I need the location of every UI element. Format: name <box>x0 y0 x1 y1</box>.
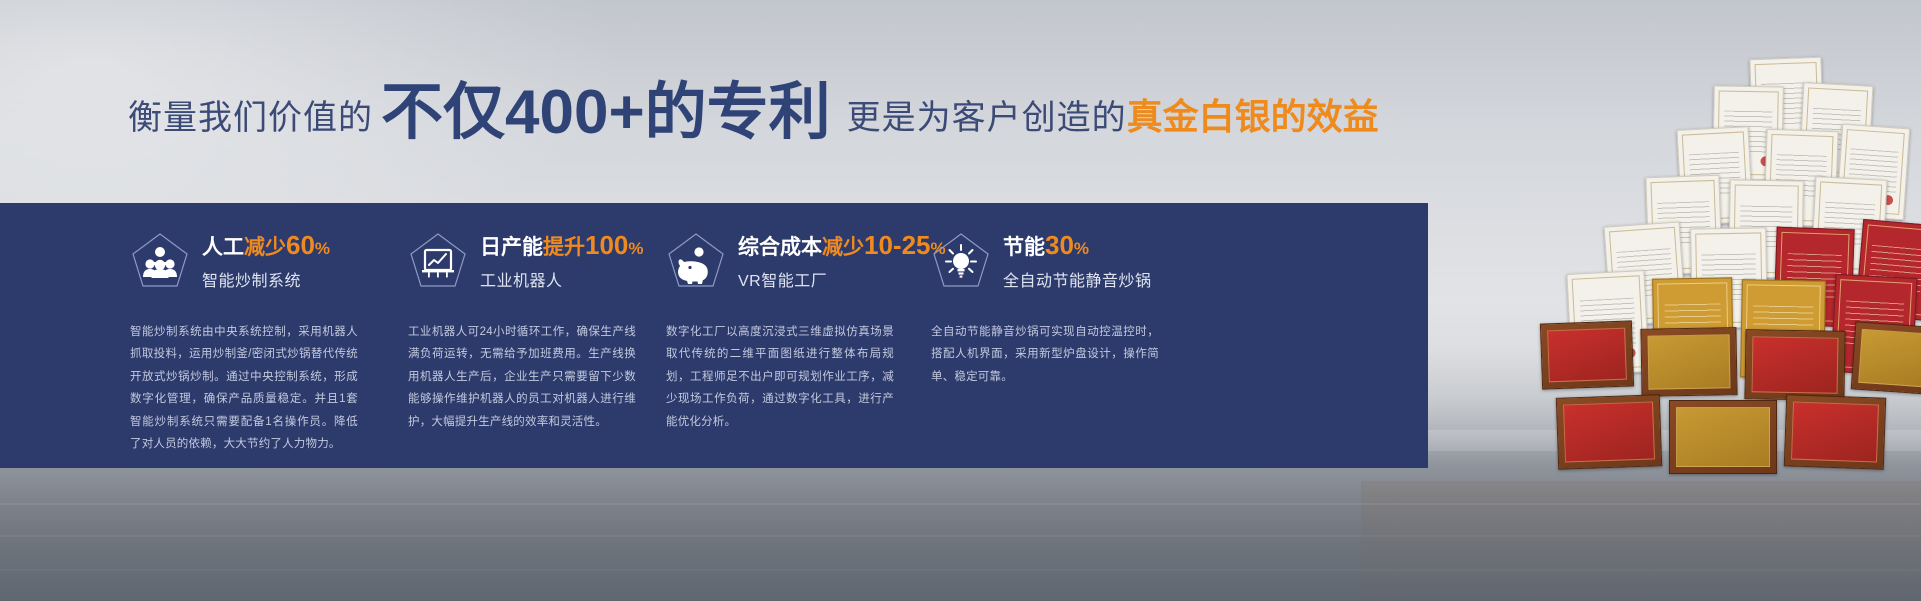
feature-subtitle: 工业机器人 <box>480 267 644 291</box>
feature-body: 数字化工厂以高度沉浸式三维虚拟仿真场景取代传统的二维平面图纸进行整体布局规划，工… <box>666 321 894 433</box>
certificate-reflection <box>1361 481 1921 601</box>
certificate <box>1830 274 1917 376</box>
feature-list: 人工减少60% 智能炒制系统 智能炒制系统由中央系统控制，采用机器人抓取投料，运… <box>130 223 1191 456</box>
feature-title-number: 30 <box>1045 230 1074 260</box>
feature-header: 人工减少60% 智能炒制系统 <box>130 223 408 299</box>
feature-title: 综合成本减少10-25% <box>738 231 946 261</box>
certificate <box>1799 82 1874 180</box>
award-plaque <box>1540 320 1634 389</box>
feature-title-number: 10-25 <box>864 230 931 260</box>
water-streak <box>0 535 1921 537</box>
feature-title-percent: % <box>315 239 330 258</box>
award-plaque <box>1784 394 1886 469</box>
feature-title: 日产能提升100% <box>480 231 644 261</box>
certificate <box>1740 279 1826 378</box>
feature-title-amount: 提升 <box>543 236 585 259</box>
certificate <box>1566 270 1649 376</box>
feature-body: 工业机器人可24小时循环工作，确保生产线满负荷运转，无需给予加班费用。生产线换用… <box>408 321 636 433</box>
banner-stage: 衡量我们价值的 不仅400+的专利 更是为客户创造的 真金白银的效益 <box>0 0 1921 601</box>
feature-title-percent: % <box>1074 239 1089 258</box>
certificate <box>1773 227 1854 328</box>
award-plaque <box>1556 394 1662 470</box>
banner-headline: 衡量我们价值的 不仅400+的专利 更是为客户创造的 真金白银的效益 <box>128 78 1379 140</box>
feature-titles: 人工减少60% 智能炒制系统 <box>202 231 330 292</box>
feature-header: 节能30% 全自动节能静音炒锅 <box>931 223 1191 299</box>
feature-subtitle: 智能炒制系统 <box>202 267 330 291</box>
feature-titles: 综合成本减少10-25% VR智能工厂 <box>738 231 946 292</box>
certificate <box>1604 221 1687 326</box>
certificate <box>1811 176 1888 276</box>
feature-item: 综合成本减少10-25% VR智能工厂 数字化工厂以高度沉浸式三维虚拟仿真场景取… <box>666 223 931 456</box>
certificate <box>1645 175 1722 276</box>
certificate <box>1652 277 1734 378</box>
feature-title-amount: 减少 <box>244 236 286 259</box>
feature-subtitle: VR智能工厂 <box>738 267 946 291</box>
certificate <box>1763 129 1838 227</box>
feature-title-percent: % <box>628 239 643 258</box>
award-plaque <box>1744 329 1845 401</box>
feature-panel: 人工减少60% 智能炒制系统 智能炒制系统由中央系统控制，采用机器人抓取投料，运… <box>0 203 1428 468</box>
feature-title-prefix: 人工 <box>202 236 244 259</box>
water-streak <box>0 503 1921 505</box>
team-people-icon <box>130 231 190 291</box>
certificate <box>1749 57 1824 155</box>
feature-titles: 节能30% 全自动节能静音炒锅 <box>1003 231 1152 292</box>
feature-item: 日产能提升100% 工业机器人 工业机器人可24小时循环工作，确保生产线满负荷运… <box>408 223 666 456</box>
feature-title: 人工减少60% <box>202 231 330 261</box>
chart-board-icon <box>408 231 468 291</box>
certificate <box>1855 219 1921 321</box>
feature-titles: 日产能提升100% 工业机器人 <box>480 231 644 292</box>
headline-accent: 真金白银的效益 <box>1127 99 1379 135</box>
lightbulb-icon <box>931 231 991 291</box>
feature-title: 节能30% <box>1003 231 1152 261</box>
feature-title-number: 100 <box>585 230 628 260</box>
certificate <box>1836 124 1910 221</box>
feature-title-amount: 减少 <box>822 236 864 259</box>
feature-body: 智能炒制系统由中央系统控制，采用机器人抓取投料，运用炒制釜/密闭式炒锅替代传统开… <box>130 321 358 456</box>
certificate <box>1712 85 1784 180</box>
feature-header: 综合成本减少10-25% VR智能工厂 <box>666 223 931 299</box>
headline-middle: 更是为客户创造的 <box>847 101 1127 135</box>
award-plaque <box>1640 327 1737 397</box>
feature-subtitle: 全自动节能静音炒锅 <box>1003 267 1152 291</box>
feature-title-prefix: 节能 <box>1003 236 1045 259</box>
headline-lead: 衡量我们价值的 <box>128 101 373 135</box>
award-plaque <box>1669 400 1777 474</box>
certificate <box>1677 126 1754 226</box>
feature-body: 全自动节能静音炒锅可实现自动控温控时，搭配人机界面，采用新型炉盘设计，操作简单、… <box>931 321 1159 388</box>
feature-item: 节能30% 全自动节能静音炒锅 全自动节能静音炒锅可实现自动控温控时，搭配人机界… <box>931 223 1191 456</box>
feature-title-prefix: 综合成本 <box>738 236 822 259</box>
feature-title-number: 60 <box>286 230 315 260</box>
certificate-wall <box>1361 0 1921 601</box>
award-plaque <box>1851 321 1921 394</box>
feature-header: 日产能提升100% 工业机器人 <box>408 223 666 299</box>
piggy-bank-icon <box>666 231 726 291</box>
certificate <box>1728 179 1804 278</box>
water-surface <box>0 451 1921 601</box>
feature-title-prefix: 日产能 <box>480 236 543 259</box>
water-streak <box>0 569 1921 571</box>
headline-emphasis: 不仅400+的专利 <box>381 82 831 144</box>
feature-item: 人工减少60% 智能炒制系统 智能炒制系统由中央系统控制，采用机器人抓取投料，运… <box>130 223 408 456</box>
certificate <box>1690 227 1768 328</box>
